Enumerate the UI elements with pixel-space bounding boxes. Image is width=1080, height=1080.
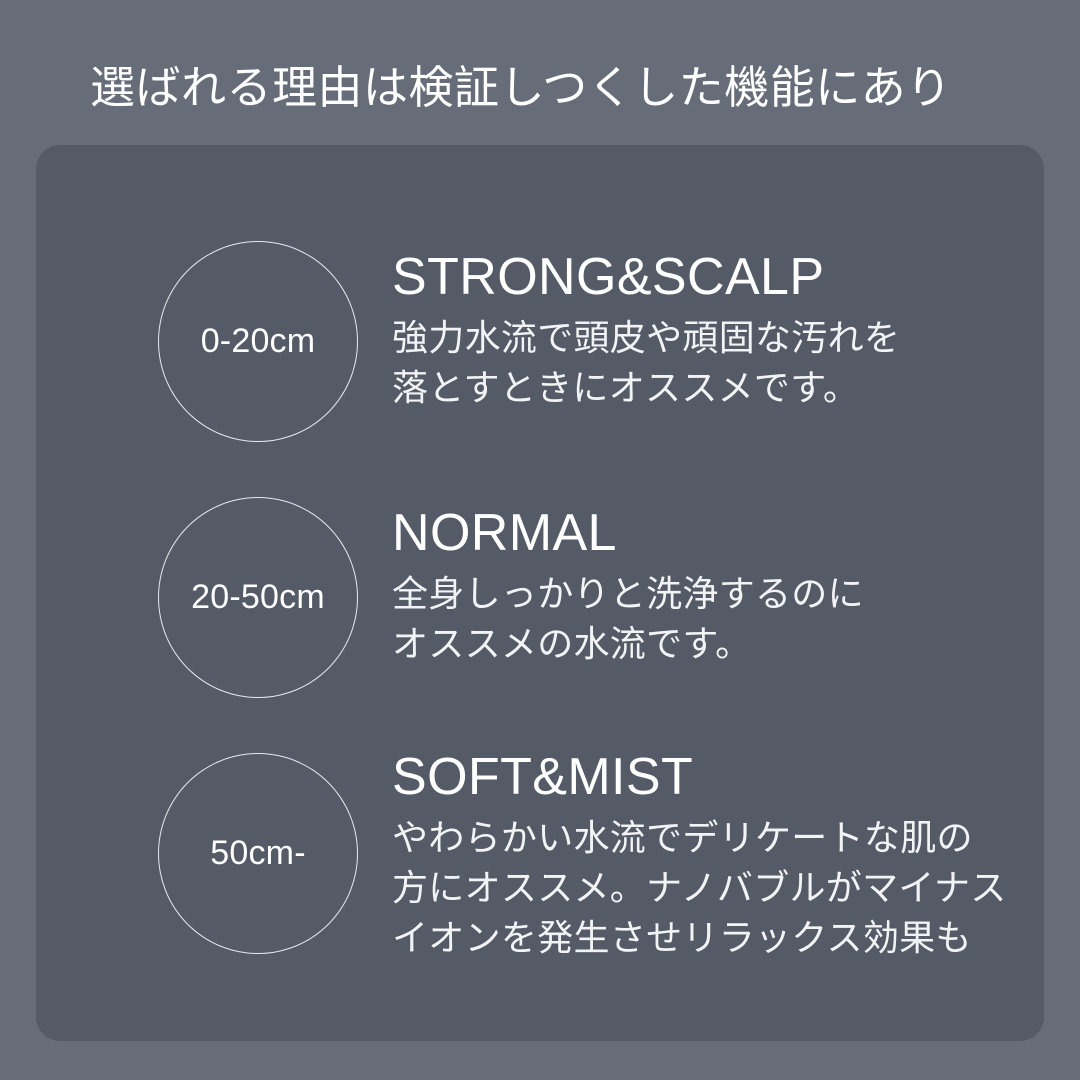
features-panel: 0-20cm STRONG&SCALP 強力水流で頭皮や頑固な汚れを 落とすとき… (36, 145, 1044, 1041)
feature-heading: STRONG&SCALP (392, 247, 984, 307)
distance-badge-label: 0-20cm (201, 322, 316, 361)
description-line: 全身しっかりと洗浄するのに (392, 569, 984, 619)
description-line: やわらかい水流でデリケートな肌の (392, 813, 984, 863)
description-line: オススメの水流です。 (392, 619, 984, 669)
distance-badge-label: 50cm- (210, 834, 305, 873)
description-line: 強力水流で頭皮や頑固な汚れを (392, 313, 984, 363)
feature-text-block: STRONG&SCALP 強力水流で頭皮や頑固な汚れを 落とすときにオススメです… (392, 247, 984, 413)
page-title: 選ばれる理由は検証しつくした機能にあり (90, 57, 990, 119)
feature-text-block: SOFT&MIST やわらかい水流でデリケートな肌の 方にオススメ。ナノバブルが… (392, 747, 984, 963)
distance-badge-circle: 0-20cm (158, 241, 358, 442)
feature-heading: SOFT&MIST (392, 747, 984, 807)
feature-row: 50cm- SOFT&MIST やわらかい水流でデリケートな肌の 方にオススメ。… (36, 753, 1044, 963)
description-line: 落とすときにオススメです。 (392, 363, 984, 413)
description-line: イオンを発生させリラックス効果も (392, 913, 984, 963)
feature-row: 0-20cm STRONG&SCALP 強力水流で頭皮や頑固な汚れを 落とすとき… (36, 241, 1044, 451)
distance-badge-label: 20-50cm (191, 578, 325, 617)
feature-description: 全身しっかりと洗浄するのに オススメの水流です。 (392, 569, 984, 669)
feature-description: やわらかい水流でデリケートな肌の 方にオススメ。ナノバブルがマイナス イオンを発… (392, 813, 984, 963)
distance-badge-circle: 50cm- (158, 753, 358, 954)
feature-description: 強力水流で頭皮や頑固な汚れを 落とすときにオススメです。 (392, 313, 984, 413)
description-line: 方にオススメ。ナノバブルがマイナス (392, 863, 984, 913)
feature-row: 20-50cm NORMAL 全身しっかりと洗浄するのに オススメの水流です。 (36, 497, 1044, 707)
feature-text-block: NORMAL 全身しっかりと洗浄するのに オススメの水流です。 (392, 503, 984, 669)
feature-heading: NORMAL (392, 503, 984, 563)
distance-badge-circle: 20-50cm (158, 497, 358, 698)
